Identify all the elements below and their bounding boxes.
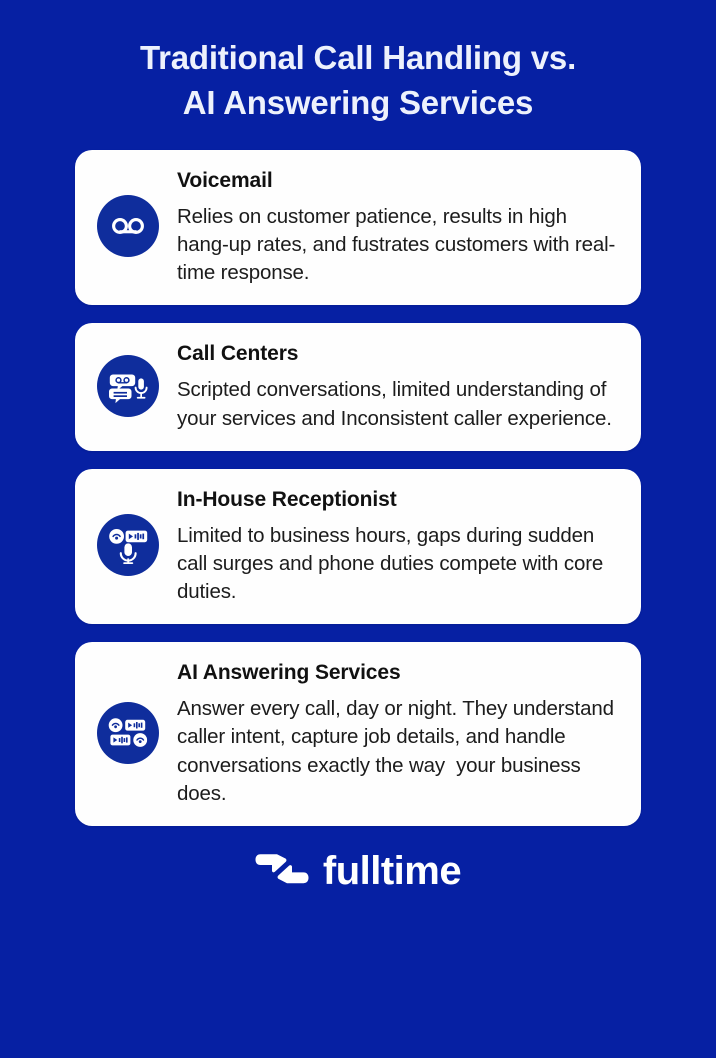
card-voicemail: Voicemail Relies on customer patience, r… [75, 150, 641, 305]
card-ai-answering-services: AI Answering Services Answer every call,… [75, 642, 641, 826]
audio-player-microphone-icon [97, 514, 159, 576]
dual-audio-player-icon [97, 702, 159, 764]
card-heading: Call Centers [177, 341, 619, 367]
fulltime-arrows-logo-icon [255, 850, 309, 893]
card-heading: In-House Receptionist [177, 487, 619, 513]
page-title-line-1: Traditional Call Handling vs. [58, 36, 658, 81]
card-description: Relies on customer patience, results in … [177, 203, 619, 287]
card-heading: AI Answering Services [177, 660, 619, 686]
page-title: Traditional Call Handling vs. AI Answeri… [58, 36, 658, 126]
infographic-page: Traditional Call Handling vs. AI Answeri… [0, 0, 716, 1058]
card-description: Answer every call, day or night. They un… [177, 695, 619, 807]
card-body: AI Answering Services Answer every call,… [177, 658, 619, 808]
footer-logo: fulltime [255, 850, 461, 893]
card-description: Scripted conversations, limited understa… [177, 376, 619, 432]
card-call-centers: Call Centers Scripted conversations, lim… [75, 323, 641, 450]
chat-bubbles-microphone-icon [97, 355, 159, 417]
voicemail-icon [97, 195, 159, 257]
logo-wordmark: fulltime [323, 851, 461, 891]
card-body: Call Centers Scripted conversations, lim… [177, 339, 619, 432]
comparison-card-list: Voicemail Relies on customer patience, r… [75, 150, 641, 826]
card-body: In-House Receptionist Limited to busines… [177, 485, 619, 606]
card-description: Limited to business hours, gaps during s… [177, 522, 619, 606]
card-in-house-receptionist: In-House Receptionist Limited to busines… [75, 469, 641, 624]
card-heading: Voicemail [177, 168, 619, 194]
page-title-line-2: AI Answering Services [58, 81, 658, 126]
card-body: Voicemail Relies on customer patience, r… [177, 166, 619, 287]
